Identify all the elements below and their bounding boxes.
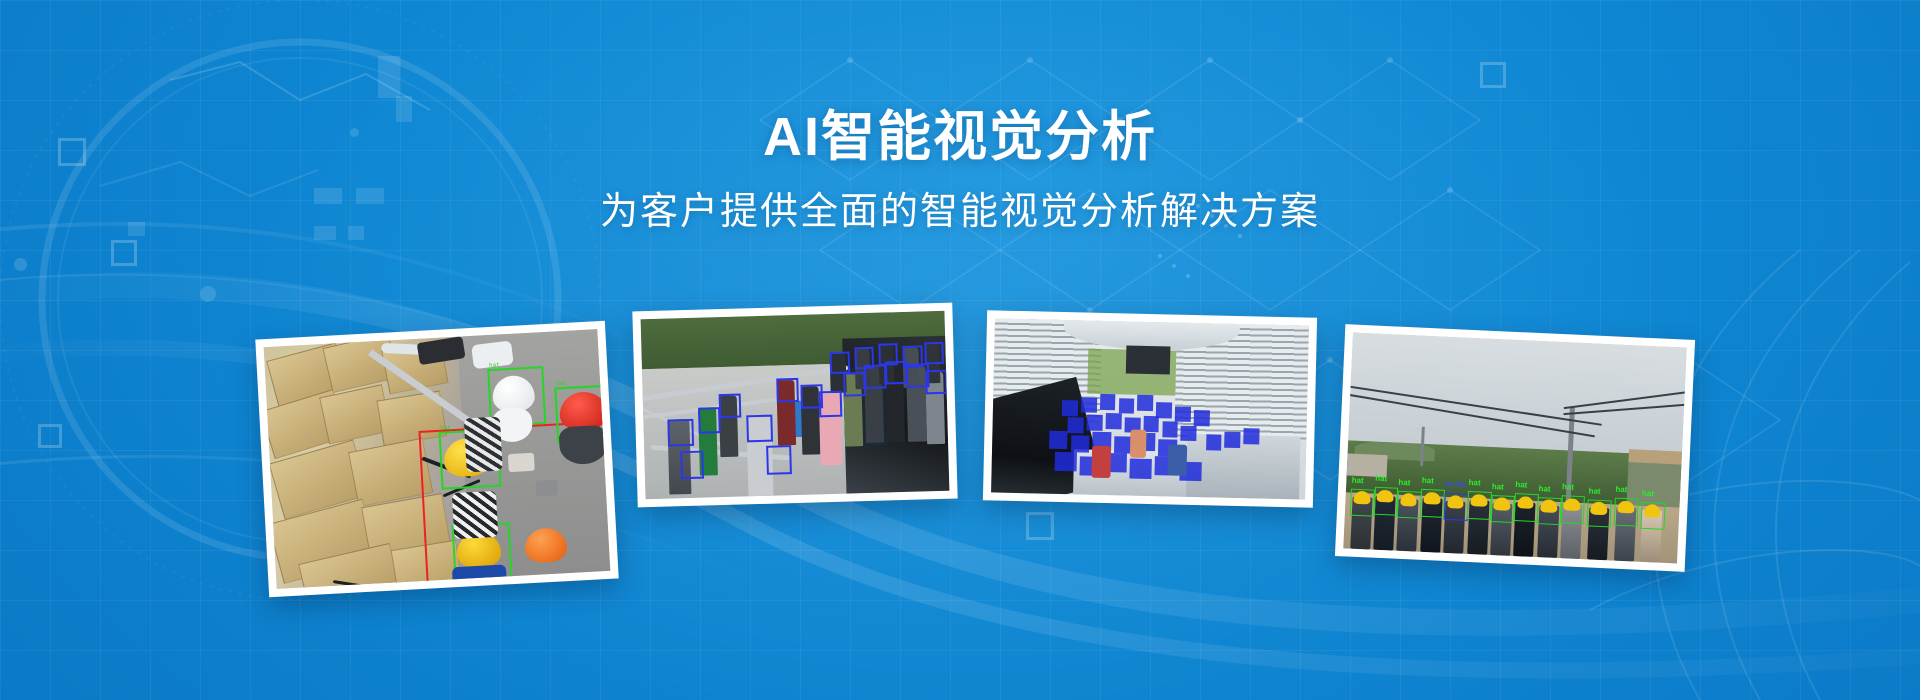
- building: [1347, 453, 1388, 476]
- face-detection-box: [719, 394, 742, 418]
- face-detection-box: [924, 341, 944, 364]
- photo-gallery: hat hat hat hat: [0, 300, 1920, 600]
- hat-detection-box: [1350, 488, 1375, 517]
- head-detection-box: [1243, 429, 1259, 445]
- face-detection-box: [843, 372, 866, 396]
- face-detection-box: [903, 346, 923, 369]
- hat-detection-box: [1587, 499, 1612, 528]
- hat-detection-box: [1490, 494, 1515, 523]
- hat-detection-box: [1467, 491, 1492, 520]
- hat-detection-box: [1537, 497, 1562, 526]
- floor-item: [535, 480, 558, 497]
- person: [1092, 446, 1112, 478]
- photo-content: hat hat hat hat: [264, 329, 611, 589]
- head-detection-box: [1143, 416, 1159, 432]
- head-detection-box: [1118, 398, 1134, 414]
- hat-detection-box: [1397, 490, 1422, 519]
- decor-square-outline: [1480, 62, 1506, 88]
- person: [1130, 429, 1146, 457]
- gallery-photo-footbridge-crowd-detection[interactable]: [632, 303, 957, 508]
- hero-banner: AI智能视觉分析 为客户提供全面的智能视觉分析解决方案: [0, 0, 1920, 700]
- person-clothing: [464, 417, 503, 473]
- head-detection-box: [1181, 425, 1197, 441]
- head-detection-box: [1137, 395, 1153, 411]
- detection-label: hat: [1615, 486, 1627, 495]
- head-detection-box: [1194, 410, 1210, 426]
- hat-detection-box: [1614, 498, 1639, 527]
- face-detection-box: [668, 419, 694, 447]
- person-clothing: [452, 491, 498, 539]
- detection-label: hat: [1352, 476, 1364, 485]
- head-detection-box: [1068, 418, 1084, 434]
- detection-label: hat: [1375, 475, 1387, 484]
- photo-content: [991, 318, 1309, 499]
- face-detection-box: [766, 445, 792, 475]
- hat-detection-box: [1640, 501, 1665, 530]
- head-detection-box: [1087, 415, 1103, 431]
- face-detection-box: [698, 407, 721, 433]
- face-detection-box: [819, 391, 842, 417]
- photo-content: [641, 311, 950, 499]
- head-detection-box: [1081, 397, 1097, 413]
- building-roof: [1628, 449, 1682, 464]
- detection-label: hat: [1468, 479, 1480, 488]
- floor-item: [508, 453, 535, 472]
- detection-label: hat: [1422, 477, 1434, 486]
- detection-label: hat: [1398, 478, 1410, 487]
- head-detection-box: [1130, 459, 1152, 479]
- detection-label: hat: [556, 381, 567, 388]
- face-detection-box: [925, 370, 948, 394]
- detection-label: hat: [440, 425, 451, 432]
- face-detection-box: [878, 343, 898, 366]
- head-detection-box: [1100, 394, 1116, 410]
- head-detection-box: [1049, 431, 1068, 449]
- head-detection-box: [1225, 432, 1241, 448]
- head-detection-box: [1162, 421, 1178, 437]
- face-detection-box: [776, 378, 799, 402]
- gallery-photo-outdoor-hat-detection[interactable]: hat hat hat hat no-hat: [1335, 324, 1695, 572]
- head-detection-box: [1070, 435, 1089, 453]
- decor-square-outline: [111, 240, 137, 266]
- detection-label: hat: [1492, 483, 1504, 492]
- detection-label-secondary: no-hat: [1444, 480, 1466, 488]
- detection-label: hat: [1538, 485, 1550, 494]
- head-detection-box: [1062, 400, 1078, 416]
- detection-label: hat: [1588, 487, 1600, 496]
- display-sign: [1126, 346, 1171, 375]
- hat-detection-box: [1374, 487, 1399, 516]
- face-detection-box: [681, 451, 704, 479]
- head-detection-box: [1206, 435, 1222, 451]
- person-body: [452, 564, 507, 588]
- page-title: AI智能视觉分析: [0, 92, 1920, 171]
- page-subtitle: 为客户提供全面的智能视觉分析解决方案: [0, 180, 1920, 235]
- head-detection-box: [1106, 413, 1122, 429]
- hat-detection-box: [1560, 496, 1585, 525]
- hat-detection-box: [1514, 493, 1539, 522]
- head-detection-box: [1175, 406, 1191, 422]
- no-hat-detection-box: [1444, 492, 1469, 521]
- photo-content: hat hat hat hat no-hat: [1343, 333, 1686, 564]
- detection-label: hat: [489, 362, 500, 369]
- person: [1167, 444, 1187, 476]
- hat-detection-box: [1420, 489, 1445, 518]
- gallery-photo-warehouse-helmet-detection[interactable]: hat hat hat hat: [255, 321, 618, 598]
- face-detection-box: [854, 347, 874, 370]
- face-detection-box: [830, 351, 850, 374]
- face-detection-box: [747, 415, 773, 443]
- head-detection-box: [1054, 452, 1076, 472]
- detection-label: hat: [1642, 489, 1654, 498]
- detection-label: hat: [1515, 482, 1527, 491]
- decor-dot: [14, 258, 27, 271]
- detection-label: hat: [1562, 484, 1574, 493]
- gallery-photo-platform-crowd-detection[interactable]: [983, 310, 1317, 507]
